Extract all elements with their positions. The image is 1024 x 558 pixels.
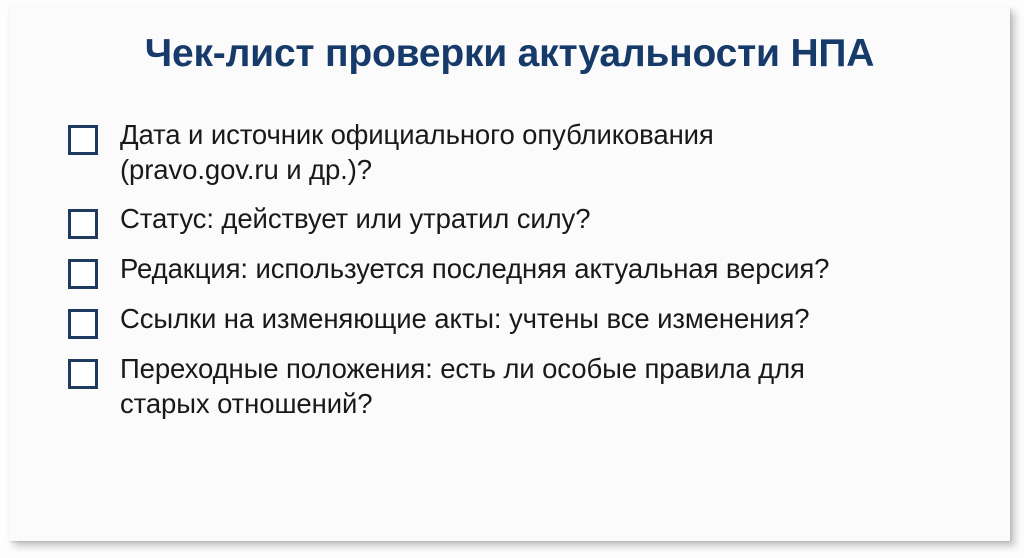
list-item-label: Переходные положения: есть ли особые пра… (120, 351, 970, 421)
checklist-card: Чек-лист проверки актуальности НПА Дата … (9, 7, 1010, 541)
checkbox-empty-icon[interactable] (68, 309, 98, 339)
page-title: Чек-лист проверки актуальности НПА (9, 33, 1010, 76)
list-item-label: Редакция: используется последняя актуаль… (120, 251, 970, 286)
card-inner: Чек-лист проверки актуальности НПА Дата … (9, 7, 1010, 541)
list-item[interactable]: Дата и источник официального опубликован… (68, 117, 970, 187)
list-item-label: Дата и источник официального опубликован… (120, 117, 970, 187)
list-item[interactable]: Переходные положения: есть ли особые пра… (68, 351, 970, 421)
list-item[interactable]: Редакция: используется последняя актуаль… (68, 251, 970, 289)
list-item[interactable]: Ссылки на изменяющие акты: учтены все из… (68, 301, 970, 339)
list-item[interactable]: Статус: действует или утратил силу? (68, 201, 970, 239)
checkbox-empty-icon[interactable] (68, 209, 98, 239)
checkbox-empty-icon[interactable] (68, 359, 98, 389)
checklist: Дата и источник официального опубликован… (68, 117, 970, 435)
list-item-label: Статус: действует или утратил силу? (120, 201, 970, 236)
screenshot-stage: Чек-лист проверки актуальности НПА Дата … (0, 0, 1024, 558)
list-item-label: Ссылки на изменяющие акты: учтены все из… (120, 301, 970, 336)
checkbox-empty-icon[interactable] (68, 125, 98, 155)
checkbox-empty-icon[interactable] (68, 259, 98, 289)
